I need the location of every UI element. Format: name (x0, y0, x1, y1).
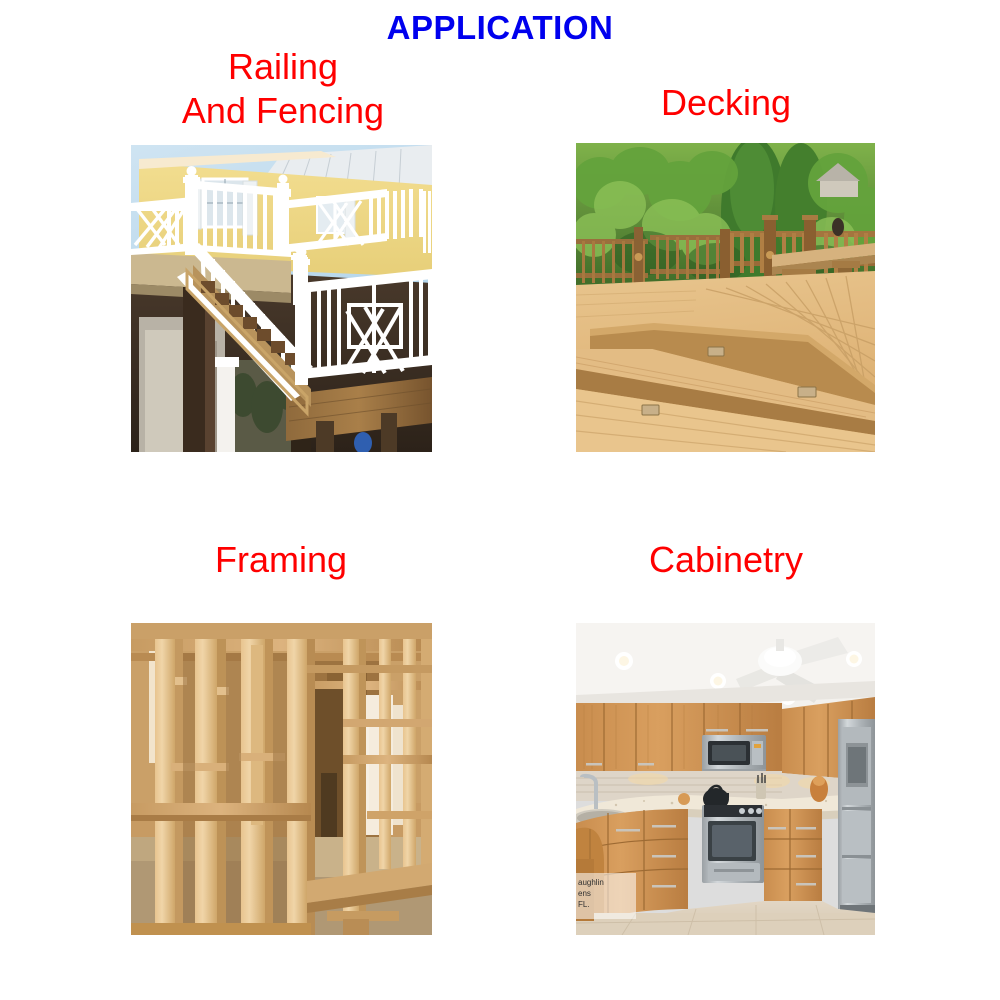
decking-photo (576, 143, 875, 452)
caption-cabinetry: Cabinetry (576, 538, 876, 582)
caption-framing: Framing (131, 538, 431, 582)
railing-and-fencing-photo (131, 145, 432, 452)
framing-photo (131, 623, 432, 935)
application-slide: APPLICATION Railing And Fencing (0, 0, 1000, 1000)
cabinetry-photo: aughlin ens FL. (576, 623, 875, 935)
caption-decking: Decking (576, 81, 876, 125)
caption-railing-and-fencing: Railing And Fencing (118, 45, 448, 133)
page-title: APPLICATION (0, 9, 1000, 47)
photo-watermark: aughlin ens FL. (576, 873, 636, 919)
